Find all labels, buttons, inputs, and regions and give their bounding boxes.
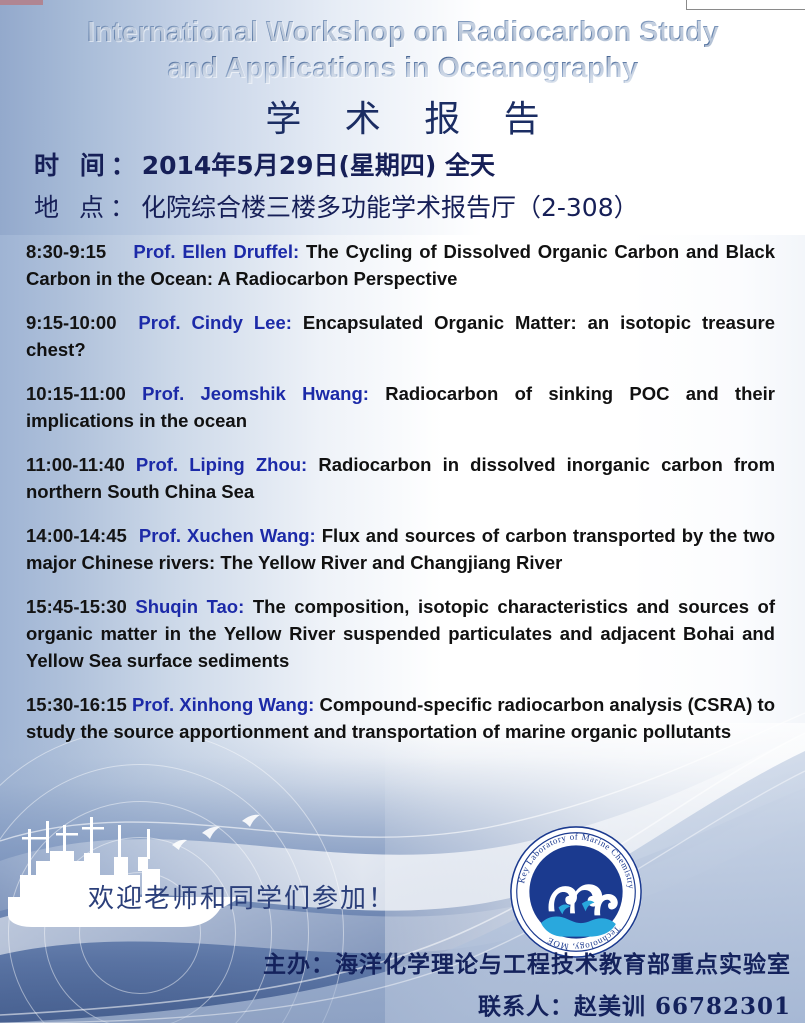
- event-time-value: 2014年5月29日(星期四) 全天: [142, 151, 495, 180]
- schedule-item-speaker: Prof. Cindy Lee:: [138, 312, 291, 333]
- schedule-item-time: 15:45-15:30: [26, 596, 127, 617]
- top-right-white-artifact: [686, 0, 805, 10]
- schedule-item: 10:15-11:00 Prof. Jeomshik Hwang: Radioc…: [26, 380, 775, 434]
- chinese-title: 学 术 报 告: [0, 90, 805, 142]
- schedule-item-speaker: Prof. Ellen Druffel:: [133, 241, 299, 262]
- schedule-item-speaker: Prof. Xinhong Wang:: [132, 694, 314, 715]
- schedule-item-speaker: Prof. Xuchen Wang:: [139, 525, 316, 546]
- contact-line: 联系人：赵美训 66782301: [478, 987, 791, 1021]
- schedule-item: 11:00-11:40 Prof. Liping Zhou: Radiocarb…: [26, 451, 775, 505]
- schedule-item-time: 15:30-16:15: [26, 694, 127, 715]
- event-location-value: 化院综合楼三楼多功能学术报告厅（2-308）: [141, 193, 639, 222]
- organizer-line: 主办：海洋化学理论与工程技术教育部重点实验室: [263, 945, 791, 979]
- welcome-message: 欢迎老师和同学们参加！: [88, 878, 396, 915]
- event-time-line: 时 间：2014年5月29日(星期四) 全天: [0, 146, 805, 182]
- top-left-color-bar: [0, 0, 43, 5]
- schedule-item-time: 8:30-9:15: [26, 241, 106, 262]
- schedule-item: 15:45-15:30 Shuqin Tao: The composition,…: [26, 593, 775, 674]
- english-title: International Workshop on Radiocarbon St…: [0, 14, 805, 86]
- schedule-list: 8:30-9:15 Prof. Ellen Druffel: The Cycli…: [26, 238, 775, 762]
- schedule-item: 14:00-14:45 Prof. Xuchen Wang: Flux and …: [26, 522, 775, 576]
- schedule-item: 15:30-16:15 Prof. Xinhong Wang: Compound…: [26, 691, 775, 745]
- schedule-item-speaker: Prof. Liping Zhou:: [136, 454, 307, 475]
- schedule-item-speaker: Shuqin Tao:: [135, 596, 244, 617]
- schedule-item: 8:30-9:15 Prof. Ellen Druffel: The Cycli…: [26, 238, 775, 292]
- poster-canvas: International Workshop on Radiocarbon St…: [0, 0, 805, 1023]
- schedule-item-speaker: Prof. Jeomshik Hwang:: [142, 383, 369, 404]
- schedule-item-time: 14:00-14:45: [26, 525, 127, 546]
- schedule-item-time: 10:15-11:00: [26, 383, 126, 404]
- key-laboratory-logo: Key Laboratory of Marine Chemistry Theor…: [508, 824, 644, 960]
- schedule-item-talk: Radiocarbon of sinking POC and their imp…: [26, 383, 775, 431]
- schedule-item: 9:15-10:00 Prof. Cindy Lee: Encapsulated…: [26, 309, 775, 363]
- schedule-item-time: 9:15-10:00: [26, 312, 117, 333]
- event-location-line: 地 点：化院综合楼三楼多功能学术报告厅（2-308）: [0, 188, 805, 224]
- poster-header: International Workshop on Radiocarbon St…: [0, 14, 805, 224]
- schedule-item-time: 11:00-11:40: [26, 454, 125, 475]
- event-location-label: 地 点：: [34, 193, 141, 222]
- event-time-label: 时 间：: [34, 151, 142, 180]
- english-title-line-2: and Applications in Oceanography: [40, 50, 765, 86]
- english-title-line-1: International Workshop on Radiocarbon St…: [40, 14, 765, 50]
